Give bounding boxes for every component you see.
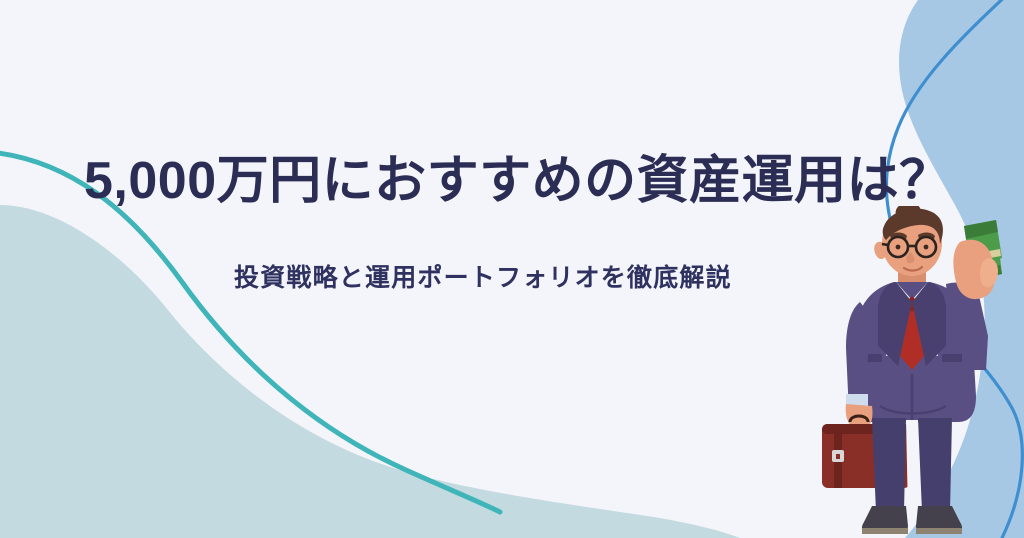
eye-left-shape	[896, 245, 901, 250]
eye-right-shape	[924, 245, 929, 250]
shoe-right-sole-shape	[916, 528, 962, 534]
leg-right-shape	[918, 418, 952, 512]
businessman-illustration	[820, 206, 1020, 538]
cuff-shape	[846, 394, 868, 406]
hero-banner: 5,000万円におすすめの資産運用は？ 投資戦略と運用ポートフォリオを徹底解説	[0, 0, 1024, 538]
shoe-left-sole-shape	[862, 528, 908, 534]
pocket-right-shape	[942, 354, 962, 362]
leg-gap-shape	[906, 420, 918, 512]
leg-left-shape	[872, 418, 906, 512]
